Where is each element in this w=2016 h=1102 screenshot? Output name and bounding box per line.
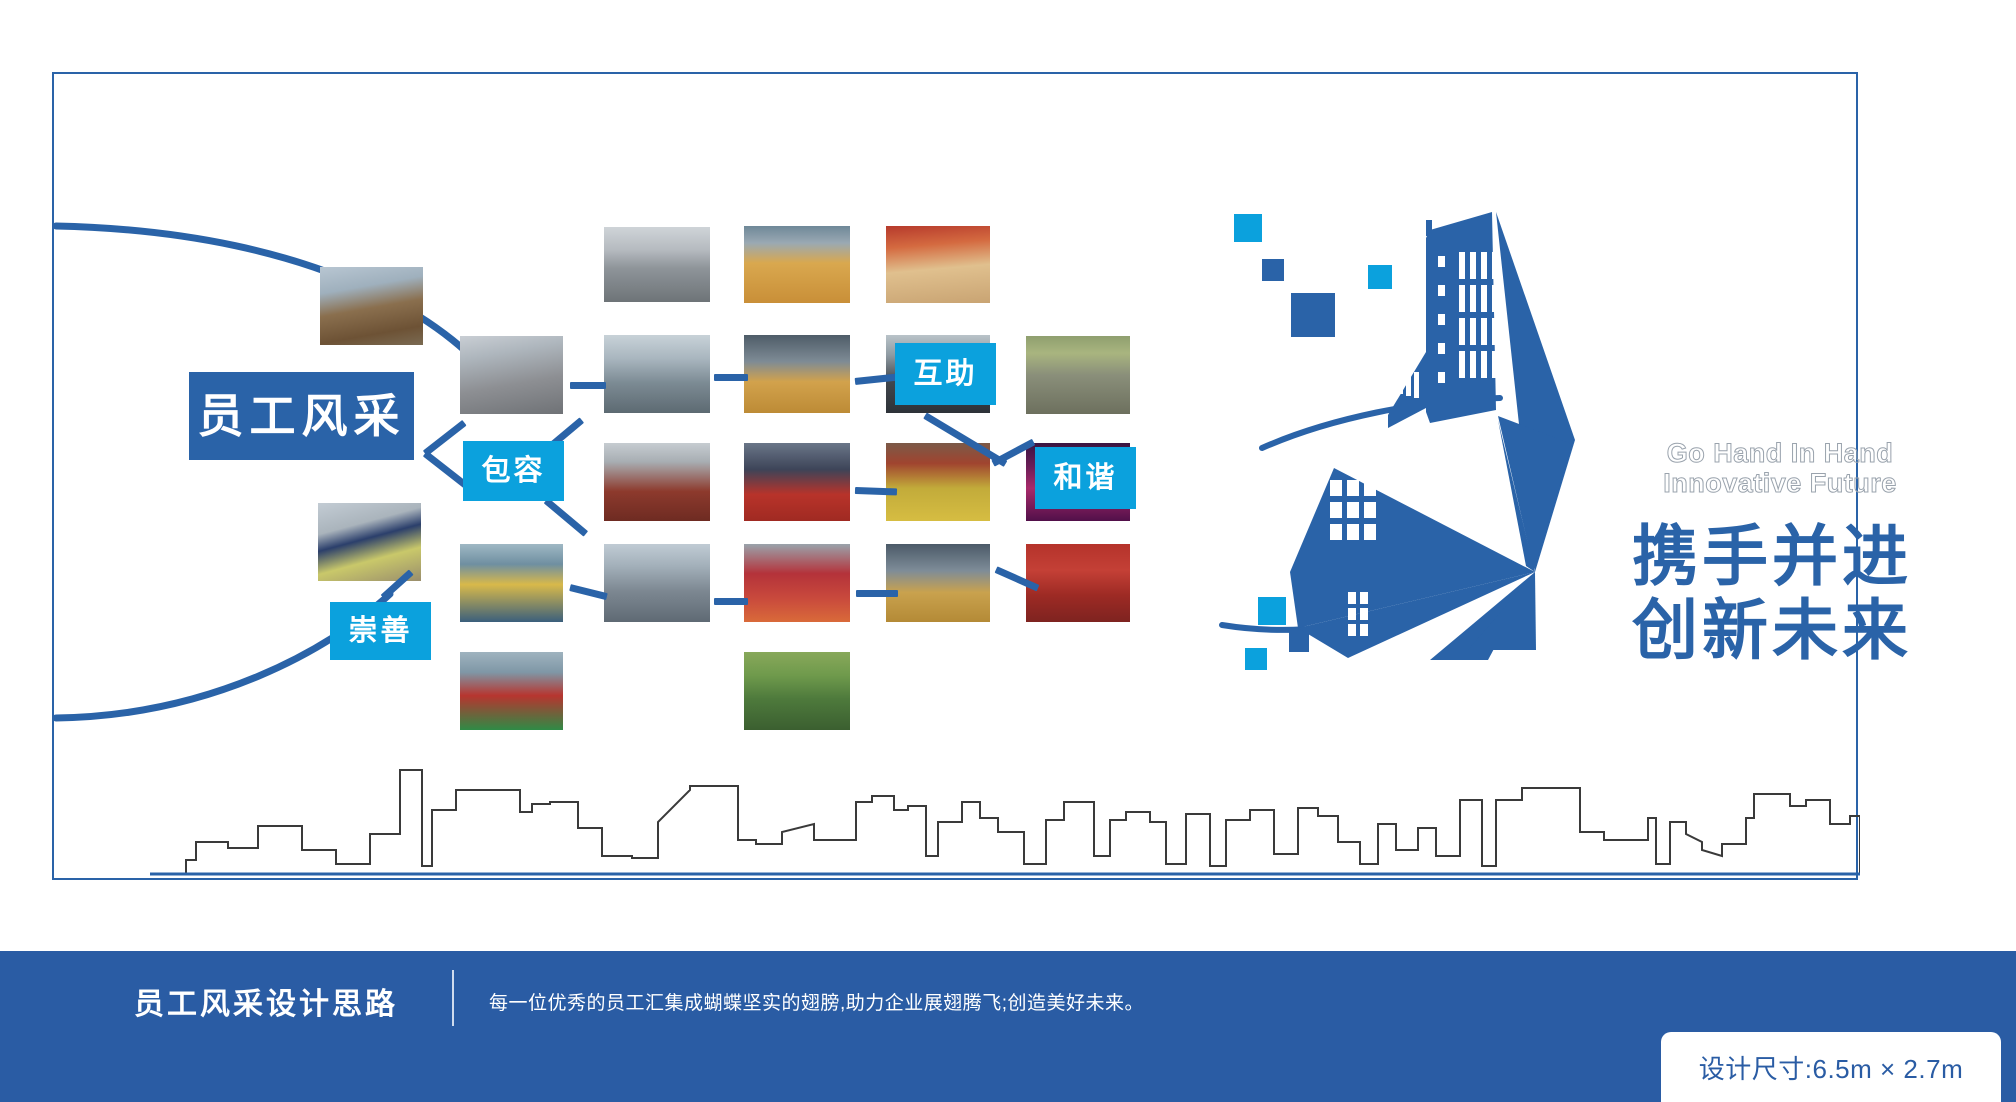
photo-p-20 [460,652,563,730]
chip-main-title[interactable]: 员工风采 [189,372,414,460]
photo-p-21 [744,652,850,730]
photo-p-06 [886,226,990,303]
photo-p-11 [604,443,710,521]
chip-hexie-label: 和谐 [1053,464,1117,493]
slogan-cn-line2: 创新未来 [1562,594,1982,668]
connector-row4-to-hexie [856,590,898,597]
photo-p-18 [886,544,990,622]
photo-p-01 [320,267,423,345]
chip-huzhu[interactable]: 互助 [895,343,996,405]
connector-hexie-left [855,487,897,495]
connector-row4-b [714,598,748,605]
chip-chongshan-label: 崇善 [348,617,412,646]
poster-canvas: 员工风采 包容 崇善 互助 和谐 [0,0,2016,1102]
photo-p-02 [318,503,421,581]
photo-p-04 [604,227,710,302]
photo-p-13 [886,443,990,521]
slogan-cn-line1: 携手并进 [1562,520,1982,594]
chip-main-title-label: 员工风采 [198,393,406,439]
photo-p-15 [460,544,563,622]
connector-row2-b [714,374,748,381]
chip-hexie[interactable]: 和谐 [1035,447,1136,509]
photo-p-17 [744,544,850,622]
photo-p-16 [604,544,710,622]
chip-baorong-label: 包容 [481,457,545,486]
city-skyline-outline [150,760,1860,876]
slogan-en-line1: Go Hand In Hand [1620,438,1940,468]
slogan-english: Go Hand In Hand Innovative Future [1620,438,1940,498]
connector-row2-a [570,382,606,389]
design-size-badge: 设计尺寸:6.5m × 2.7m [1661,1032,2001,1102]
footer-description: 每一位优秀的员工汇集成蝴蝶坚实的翅膀,助力企业展翅腾飞;创造美好未来。 [489,988,1144,1015]
chip-chongshan[interactable]: 崇善 [330,602,431,660]
photo-p-08 [744,335,850,413]
slogan-chinese: 携手并进 创新未来 [1562,520,1982,668]
photo-p-07 [604,335,710,413]
photo-p-12 [744,443,850,521]
footer-title: 员工风采设计思路 [134,979,398,1023]
photo-p-03 [460,336,563,414]
slogan-en-line2: Innovative Future [1620,468,1940,498]
photo-p-10 [1026,336,1130,414]
chip-baorong[interactable]: 包容 [463,441,564,501]
footer-divider [452,970,454,1026]
photo-p-19 [1026,544,1130,622]
chip-huzhu-label: 互助 [913,360,977,389]
design-size-label: 设计尺寸:6.5m × 2.7m [1699,1049,1963,1086]
photo-p-05 [744,226,850,303]
